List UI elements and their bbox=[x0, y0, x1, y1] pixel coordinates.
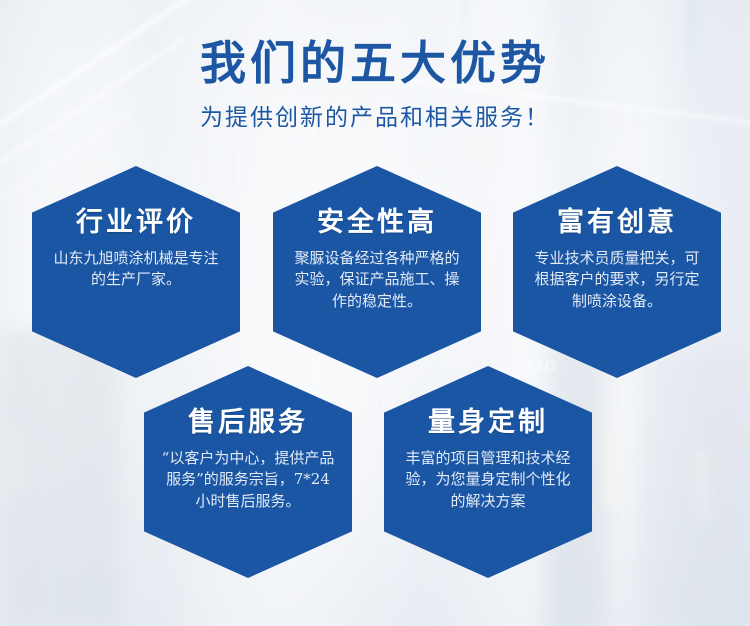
background-watermark-a: BXD bbox=[522, 358, 557, 375]
advantages-banner: BXD 喷涂 我们的五大优势 为提供创新的产品和相关服务！ 行业评价 山东九旭喷… bbox=[0, 0, 750, 626]
advantage-title: 安全性高 bbox=[317, 200, 437, 239]
advantage-body: 山东九旭喷涂机械是专注的生产厂家。 bbox=[47, 248, 225, 291]
advantage-title: 售后服务 bbox=[188, 400, 308, 439]
advantage-title: 量身定制 bbox=[428, 400, 548, 439]
page-subtitle: 为提供创新的产品和相关服务！ bbox=[0, 104, 750, 134]
advantage-body: 聚脲设备经过各种严格的实验，保证产品施工、操作的稳定性。 bbox=[288, 248, 466, 312]
heading-block: 我们的五大优势 为提供创新的产品和相关服务！ bbox=[0, 36, 750, 134]
advantage-body: 专业技术员质量把关，可根据客户的要求，另行定制喷涂设备。 bbox=[528, 248, 706, 312]
advantage-title: 行业评价 bbox=[76, 200, 196, 239]
advantage-title: 富有创意 bbox=[557, 200, 677, 239]
page-title: 我们的五大优势 bbox=[0, 36, 750, 90]
advantage-body: “以客户为中心，提供产品服务”的服务宗旨，7*24小时售后服务。 bbox=[159, 448, 337, 512]
advantage-body: 丰富的项目管理和技术经验，为您量身定制个性化的解决方案 bbox=[399, 448, 577, 512]
